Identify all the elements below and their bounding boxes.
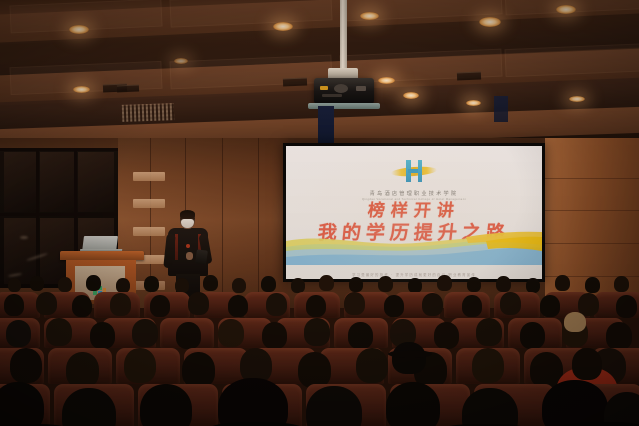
- podium-top: [60, 251, 144, 260]
- ceiling-vent: [117, 85, 139, 93]
- audience-head: [462, 295, 482, 317]
- acoustic-panel: [133, 227, 165, 236]
- ceiling-downlight: [73, 86, 90, 93]
- audience-head: [496, 276, 511, 292]
- audience-head: [555, 275, 570, 291]
- audience-head: [291, 278, 305, 293]
- audience-head: [203, 275, 218, 291]
- ceiling-vent: [457, 72, 481, 81]
- audience-head-foreground: [140, 384, 192, 426]
- audience-head: [218, 319, 244, 347]
- audience-head: [434, 322, 459, 349]
- projection-screen: 青岛酒店管理职业技术学院 Qingdao Vocational and Tech…: [286, 146, 542, 279]
- projector-pole: [340, 0, 347, 72]
- acoustic-panel: [133, 199, 165, 208]
- audience-head-blonde: [564, 312, 586, 332]
- audience-head: [30, 276, 44, 291]
- audience-head: [408, 278, 422, 293]
- audience-head: [262, 322, 287, 349]
- audience-head: [176, 322, 201, 349]
- audience-head: [188, 292, 209, 315]
- audience-head: [520, 322, 545, 349]
- audience-head: [116, 278, 130, 293]
- audience-head: [232, 278, 246, 293]
- audience-head: [175, 278, 189, 293]
- audience-head: [378, 276, 393, 292]
- acoustic-panel: [133, 172, 165, 181]
- audience-head: [476, 318, 502, 346]
- audience-head: [46, 318, 72, 346]
- audience-head: [4, 294, 24, 316]
- audience-head-with-cap: [392, 342, 426, 374]
- audience-head: [356, 348, 388, 383]
- audience-head: [150, 295, 170, 317]
- audience-head: [132, 319, 158, 347]
- ceiling-panel: [504, 43, 639, 77]
- audience-head: [306, 295, 326, 317]
- audience-head: [86, 275, 101, 291]
- letter-h-icon: [406, 160, 422, 182]
- wave-svg: [286, 231, 542, 265]
- audience-head: [58, 277, 72, 292]
- audience-head-foreground: [542, 380, 608, 426]
- presentation-logo: 青岛酒店管理职业技术学院 Qingdao Vocational and Tech…: [286, 160, 542, 201]
- audience-head: [144, 276, 159, 292]
- ceiling-downlight: [403, 92, 419, 99]
- audience-head: [8, 278, 21, 292]
- audience-head: [526, 278, 540, 293]
- audience-head: [319, 275, 334, 291]
- audience-head: [10, 348, 42, 383]
- audience-head: [616, 295, 637, 318]
- ceiling-vent: [283, 78, 307, 87]
- audience-head: [585, 277, 600, 293]
- handheld-device-icon: [195, 249, 208, 264]
- ceiling-downlight: [556, 5, 576, 14]
- audience-head: [500, 292, 521, 315]
- speaker-hand: [186, 252, 193, 260]
- audience-head: [384, 295, 404, 317]
- audience-head: [472, 348, 504, 383]
- audience-head: [124, 348, 156, 383]
- audience-head: [349, 277, 363, 292]
- ceiling-downlight: [174, 58, 188, 64]
- audience-head: [572, 348, 602, 380]
- audience-head: [348, 322, 373, 349]
- audience-head: [540, 295, 560, 317]
- audience-head: [437, 275, 452, 291]
- navy-column-secondary: [494, 96, 508, 122]
- audience-head: [298, 352, 331, 388]
- cap-brim-icon: [388, 350, 432, 358]
- audience-head: [467, 277, 481, 292]
- auditorium-photo: 青岛酒店管理职业技术学院 Qingdao Vocational and Tech…: [0, 0, 639, 426]
- audience-head: [606, 322, 632, 350]
- ceiling-downlight: [569, 96, 585, 102]
- ceiling-downlight: [69, 25, 89, 34]
- audience-head: [36, 292, 57, 315]
- audience-head: [90, 322, 115, 349]
- audience-head: [266, 293, 287, 316]
- ceiling-downlight: [273, 22, 293, 31]
- audience-head: [228, 295, 248, 317]
- audience-head: [304, 318, 330, 346]
- audience-head: [261, 276, 276, 292]
- audience-head: [66, 352, 99, 388]
- audience-head-foreground: [218, 378, 288, 426]
- audience-head: [110, 293, 131, 316]
- audience-head: [614, 276, 629, 292]
- projector-icon: [314, 78, 374, 104]
- ceiling-downlight: [378, 77, 395, 84]
- slide-wave-graphic: [286, 231, 542, 265]
- speaker-hair: [180, 210, 195, 218]
- audience-head: [182, 352, 215, 388]
- audience: [0, 272, 639, 426]
- audience-head: [422, 293, 443, 316]
- ceiling-vent-grill: [122, 103, 175, 122]
- audience-head: [72, 295, 92, 317]
- h-monogram-icon: [391, 160, 437, 182]
- ceiling-downlight: [466, 100, 481, 106]
- audience-head: [6, 320, 31, 347]
- audience-head-foreground: [386, 382, 440, 426]
- audience-head: [344, 292, 365, 315]
- ceiling-downlight: [360, 12, 379, 20]
- ceiling-downlight: [479, 17, 501, 27]
